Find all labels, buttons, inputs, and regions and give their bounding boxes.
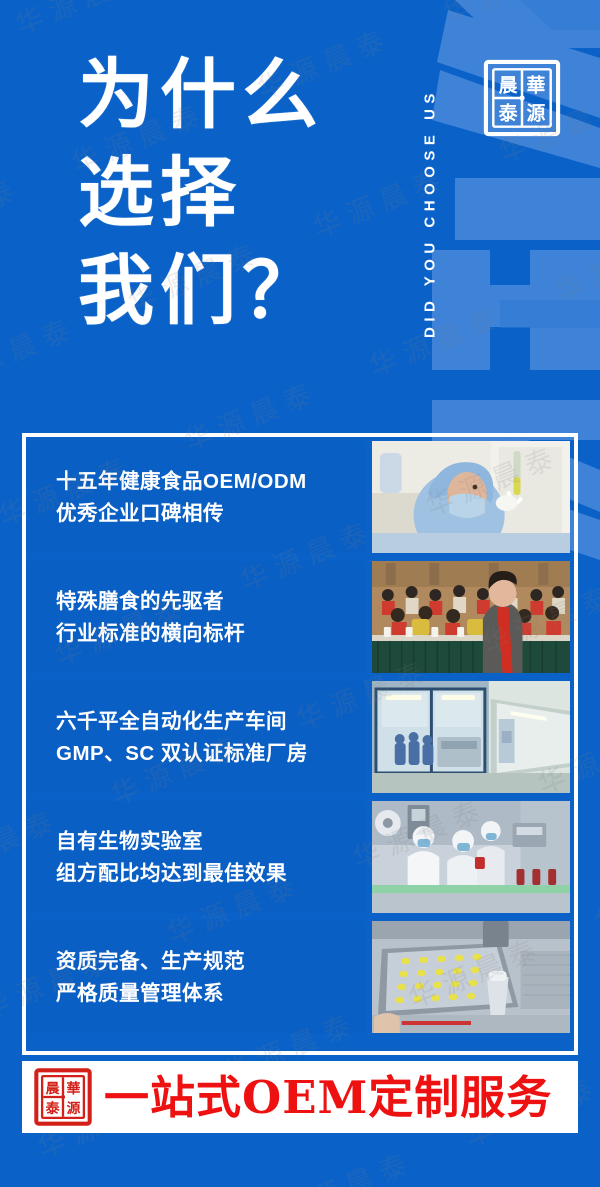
svg-text:泰: 泰 (498, 101, 519, 124)
svg-text:晨: 晨 (46, 1081, 60, 1097)
feature-line: 资质完备、生产规范 (56, 949, 365, 974)
feature-text-5: 资质完备、生产规范 严格质量管理体系 (30, 921, 365, 1033)
svg-text:泰: 泰 (45, 1100, 61, 1117)
brand-seal-red-icon: 華 源 晨 泰 (34, 1068, 92, 1126)
feature-line: 组方配比均达到最佳效果 (56, 861, 365, 886)
list-item: 自有生物实验室 组方配比均达到最佳效果 (30, 801, 570, 913)
title-line-2: 选择 (78, 144, 324, 242)
production-line-workers-photo (372, 801, 570, 913)
svg-text:華: 華 (66, 1080, 80, 1097)
conference-audience-photo (372, 561, 570, 673)
svg-text:源: 源 (527, 101, 546, 124)
title-line-3: 我们？ (78, 242, 324, 340)
feature-list: 十五年健康食品OEM/ODM 优秀企业口碑相传 (30, 441, 570, 1033)
tablet-packaging-machine-photo (372, 921, 570, 1033)
svg-text:源: 源 (66, 1100, 80, 1117)
feature-text-3: 六千平全自动化生产车间 GMP、SC 双认证标准厂房 (30, 681, 365, 793)
feature-text-1: 十五年健康食品OEM/ODM 优秀企业口碑相传 (30, 441, 365, 553)
feature-line: 自有生物实验室 (56, 829, 365, 854)
feature-line: GMP、SC 双认证标准厂房 (56, 741, 365, 766)
list-item: 六千平全自动化生产车间 GMP、SC 双认证标准厂房 (30, 681, 570, 793)
svg-text:晨: 晨 (499, 74, 518, 96)
poster-header: 为什么 选择 我们？ DID YOU CHOOSE US 華 源 晨 泰 (0, 0, 600, 430)
feature-text-4: 自有生物实验室 组方配比均达到最佳效果 (30, 801, 365, 913)
feature-line: 十五年健康食品OEM/ODM (56, 469, 365, 494)
feature-line: 六千平全自动化生产车间 (56, 709, 365, 734)
feature-text-2: 特殊膳食的先驱者 行业标准的横向标杆 (30, 561, 365, 673)
lab-technician-photo (372, 441, 570, 553)
page-title: 为什么 选择 我们？ (78, 46, 324, 340)
poster-root: 为什么 选择 我们？ DID YOU CHOOSE US 華 源 晨 泰 (0, 0, 600, 1187)
footer-banner: 華 源 晨 泰 一站式OEM定制服务 (22, 1061, 578, 1133)
footer-slogan: 一站式OEM定制服务 (104, 1075, 552, 1120)
feature-line: 行业标准的横向标杆 (56, 621, 365, 646)
feature-line: 优秀企业口碑相传 (56, 501, 365, 526)
list-item: 资质完备、生产规范 严格质量管理体系 (30, 921, 570, 1033)
vertical-tagline: DID YOU CHOOSE US (416, 18, 444, 408)
title-line-1: 为什么 (78, 46, 324, 144)
list-item: 十五年健康食品OEM/ODM 优秀企业口碑相传 (30, 441, 570, 553)
list-item: 特殊膳食的先驱者 行业标准的横向标杆 (30, 561, 570, 673)
cleanroom-corridor-photo (372, 681, 570, 793)
brand-seal-white-icon: 華 源 晨 泰 (481, 57, 563, 139)
svg-text:華: 華 (527, 73, 546, 96)
feature-line: 特殊膳食的先驱者 (56, 589, 365, 614)
feature-line: 严格质量管理体系 (56, 981, 365, 1006)
